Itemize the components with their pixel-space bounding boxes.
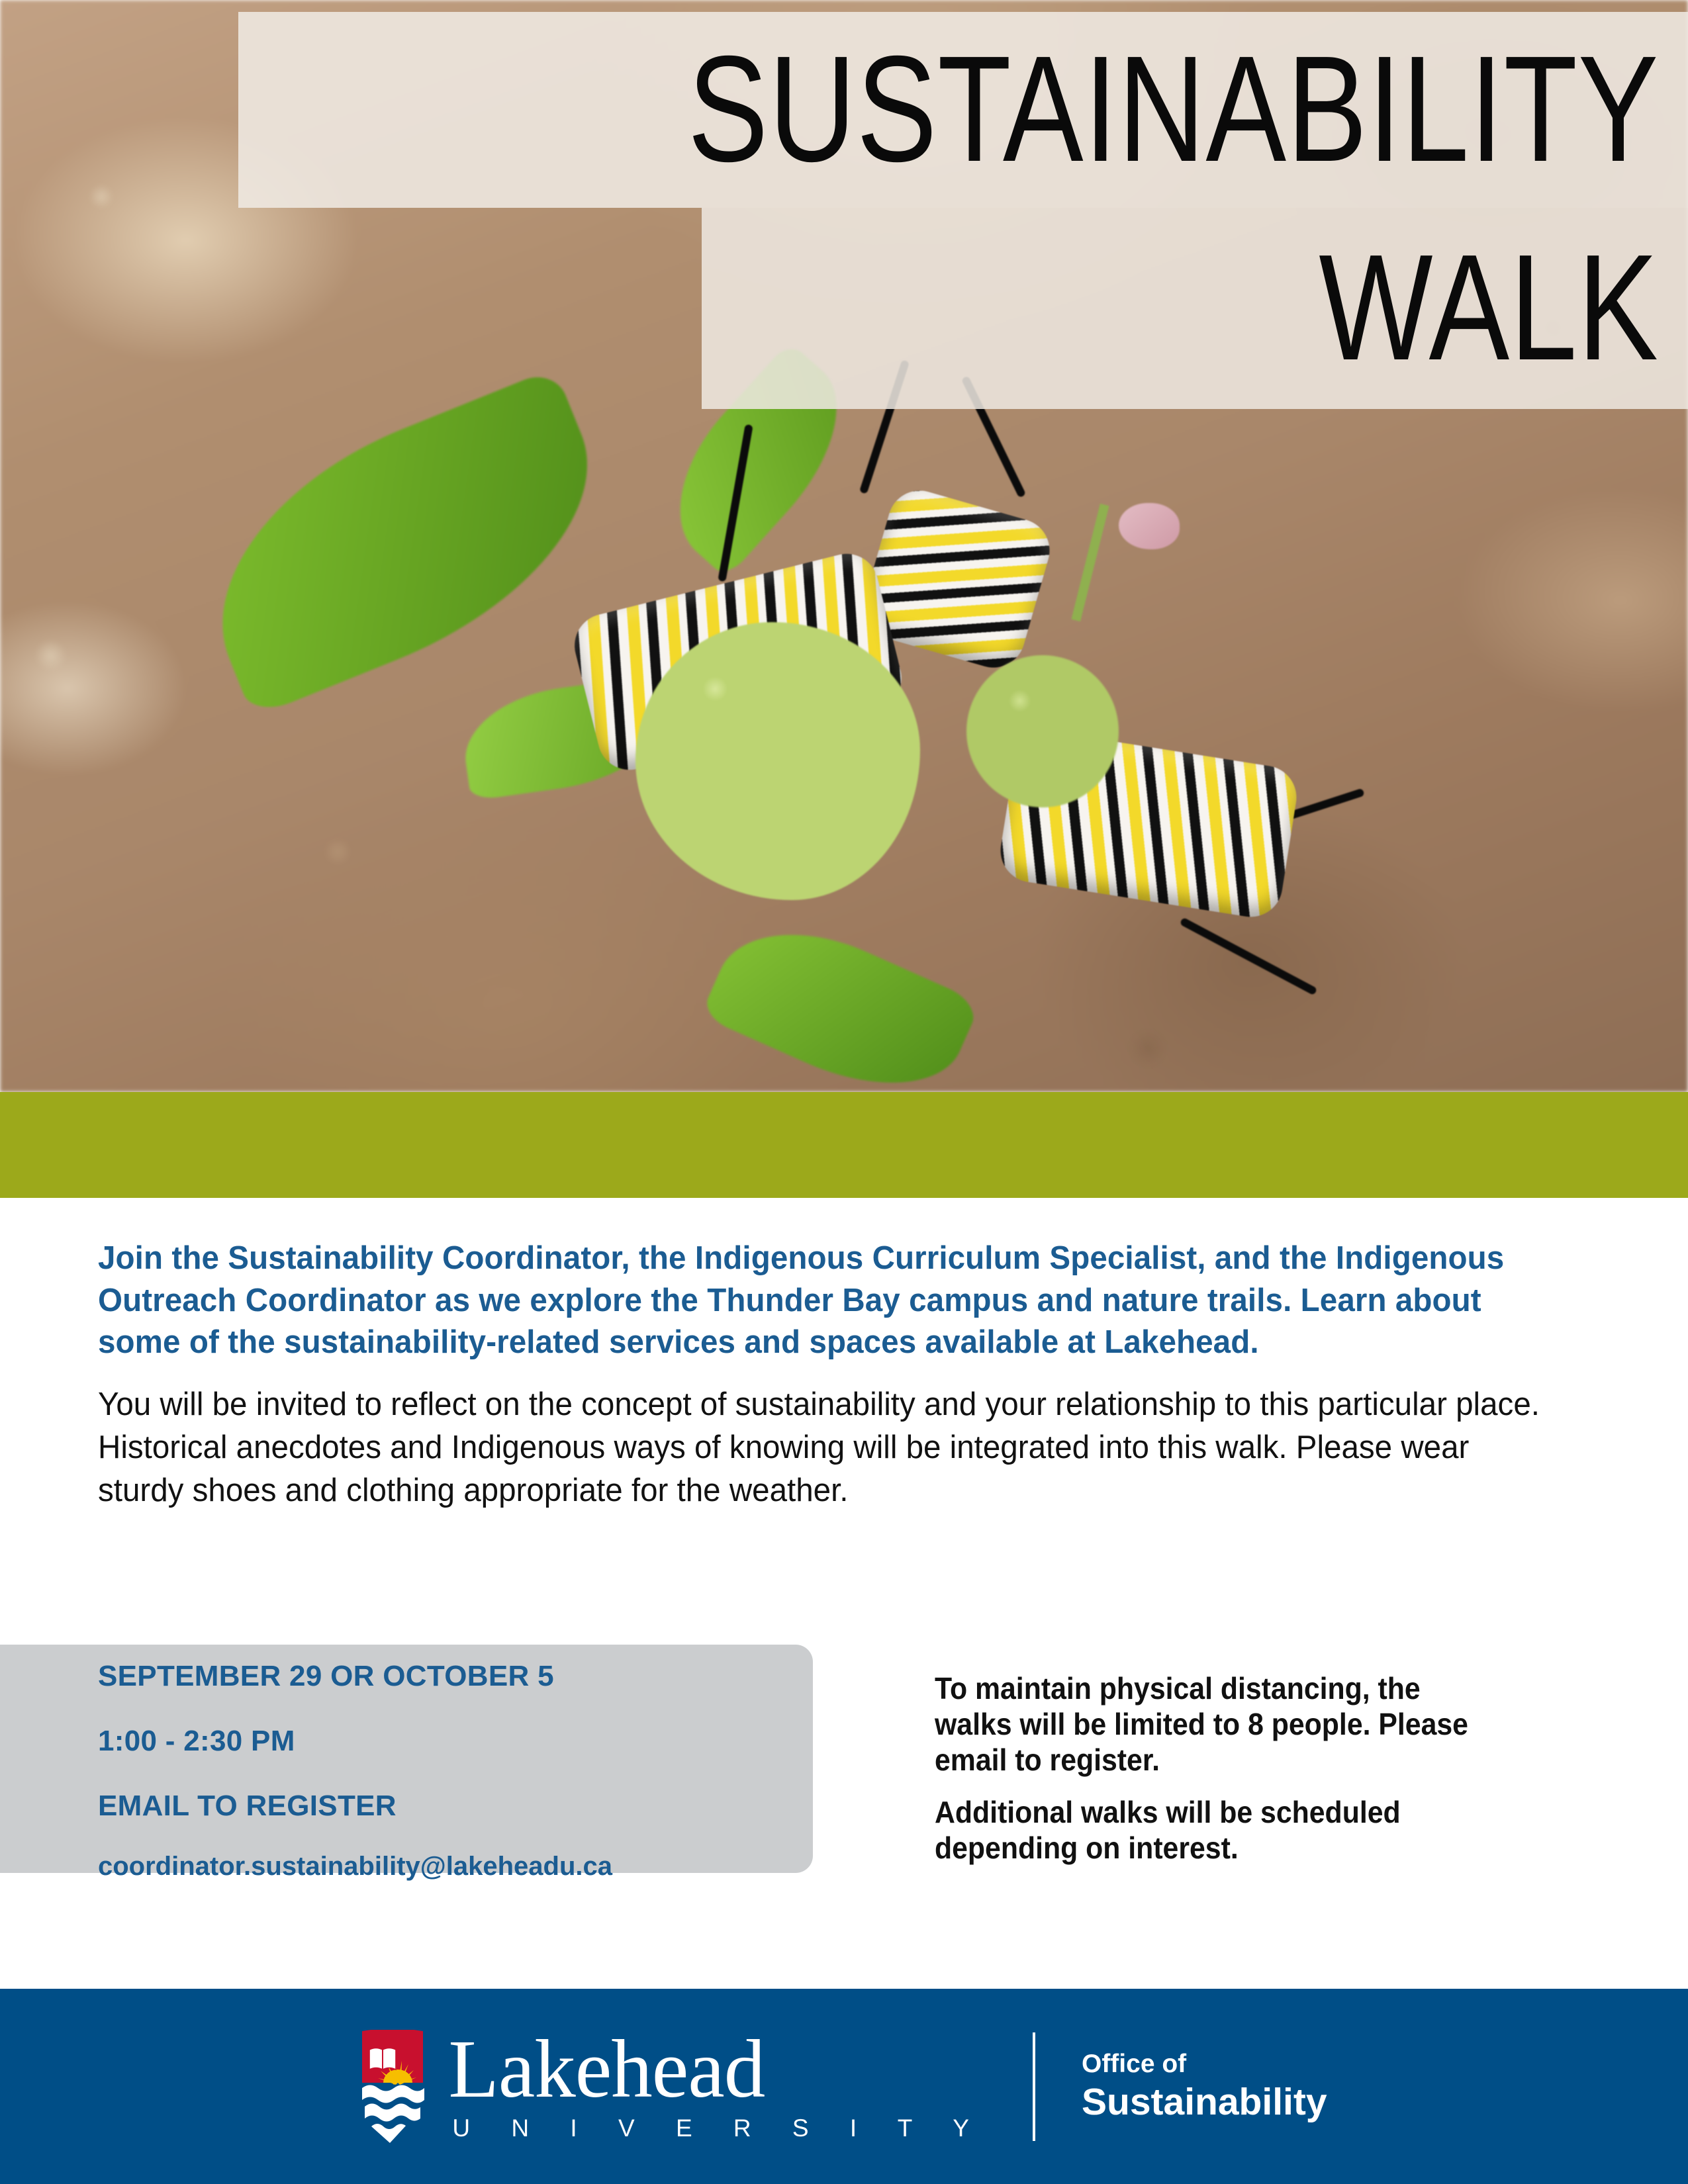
capacity-note: To maintain physical distancing, the wal… [935,1671,1470,1866]
register-label: EMAIL TO REGISTER [98,1790,760,1823]
wordmark-lakehead: Lakehead [448,2030,986,2109]
capacity-note-line2: Additional walks will be scheduled depen… [935,1795,1470,1866]
lakehead-wordmark: Lakehead U N I V E R S I T Y [448,2030,986,2142]
event-details-content: SEPTEMBER 29 OR OCTOBER 5 1:00 - 2:30 PM… [98,1660,760,1882]
event-dates: SEPTEMBER 29 OR OCTOBER 5 [98,1660,760,1693]
lakehead-logo: Lakehead U N I V E R S I T Y Office of S… [361,2030,1327,2144]
accent-green-bar [0,1092,1688,1198]
description-paragraph: You will be invited to reflect on the co… [98,1383,1556,1512]
office-label-top: Office of [1082,2050,1327,2079]
page-title-line1: SUSTAINABILITY [688,42,1659,177]
title-band-primary: SUSTAINABILITY [238,12,1688,208]
footer-content: Lakehead U N I V E R S I T Y Office of S… [0,1989,1688,2184]
intro-paragraph: Join the Sustainability Coordinator, the… [98,1238,1549,1364]
page-title-line2: WALK [1319,240,1659,376]
footer-bar: Lakehead U N I V E R S I T Y Office of S… [0,1989,1688,2184]
wordmark-university: U N I V E R S I T Y [448,2115,986,2142]
flower-bud [1119,503,1180,549]
capacity-note-line1: To maintain physical distancing, the wal… [935,1671,1470,1778]
office-label-bottom: Sustainability [1082,2081,1327,2123]
register-email-link[interactable]: coordinator.sustainability@lakeheadu.ca [98,1852,760,1882]
title-band-secondary: WALK [702,208,1688,409]
event-time: 1:00 - 2:30 PM [98,1725,760,1758]
logo-divider [1033,2032,1035,2141]
lakehead-crest-icon [361,2030,424,2144]
office-of-sustainability-lockup: Office of Sustainability [1082,2050,1327,2123]
milkweed-flower-cluster-small [966,655,1119,807]
poster-page: SUSTAINABILITY WALK Join the Sustainabil… [0,0,1688,2184]
